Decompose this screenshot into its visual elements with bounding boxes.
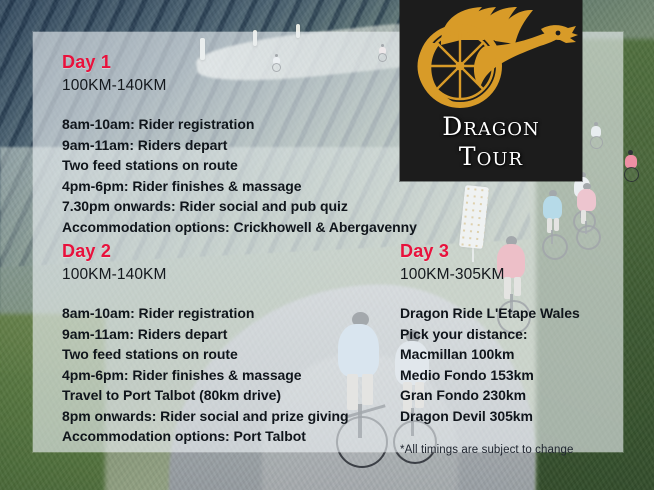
poster: Day 1 100KM-140KM 8am-10am: Rider regist… bbox=[0, 0, 654, 490]
list-item: Accommodation options: Port Talbot bbox=[62, 426, 349, 447]
list-item: 8am-10am: Rider registration bbox=[62, 114, 417, 135]
day-1-heading: Day 1 bbox=[62, 52, 417, 72]
list-item: Macmillan 100km bbox=[400, 344, 580, 365]
list-item: Accommodation options: Crickhowell & Abe… bbox=[62, 217, 417, 238]
day-1-column: Day 1 100KM-140KM 8am-10am: Rider regist… bbox=[62, 52, 417, 237]
day-1-schedule-list: 8am-10am: Rider registration 9am-11am: R… bbox=[62, 114, 417, 237]
timings-disclaimer: *All timings are subject to change bbox=[400, 444, 580, 456]
day-3-distance: 100KM-305KM bbox=[400, 265, 580, 285]
list-item: 4pm-6pm: Rider finishes & massage bbox=[62, 176, 417, 197]
day-2-heading: Day 2 bbox=[62, 241, 349, 261]
list-item: Medio Fondo 153km bbox=[400, 365, 580, 386]
list-item: 9am-11am: Riders depart bbox=[62, 324, 349, 345]
list-item: 8pm onwards: Rider social and prize givi… bbox=[62, 406, 349, 427]
list-item: Dragon Ride L'Etape Wales bbox=[400, 303, 580, 324]
logo-word-tour: Tour bbox=[400, 142, 582, 172]
logo-wordmark: Dragon Tour bbox=[400, 112, 582, 172]
day-1-distance: 100KM-140KM bbox=[62, 76, 417, 96]
list-item: 9am-11am: Riders depart bbox=[62, 135, 417, 156]
list-item: Two feed stations on route bbox=[62, 155, 417, 176]
logo-word-dragon: Dragon bbox=[400, 112, 582, 142]
list-item: 8am-10am: Rider registration bbox=[62, 303, 349, 324]
list-item: Dragon Devil 305km bbox=[400, 406, 580, 427]
list-item: Pick your distance: bbox=[400, 324, 580, 345]
day-2-distance: 100KM-140KM bbox=[62, 265, 349, 285]
list-item: Two feed stations on route bbox=[62, 344, 349, 365]
list-item: 4pm-6pm: Rider finishes & massage bbox=[62, 365, 349, 386]
day-3-heading: Day 3 bbox=[400, 241, 580, 261]
day-2-schedule-list: 8am-10am: Rider registration 9am-11am: R… bbox=[62, 303, 349, 447]
list-item: Travel to Port Talbot (80km drive) bbox=[62, 385, 349, 406]
dragon-bicycle-wheel-icon bbox=[400, 2, 582, 114]
day-2-column: Day 2 100KM-140KM 8am-10am: Rider regist… bbox=[62, 241, 349, 447]
list-item: 7.30pm onwards: Rider social and pub qui… bbox=[62, 196, 417, 217]
dragon-tour-logo-panel: Dragon Tour bbox=[400, 0, 582, 181]
list-item: Gran Fondo 230km bbox=[400, 385, 580, 406]
day-3-column: Day 3 100KM-305KM Dragon Ride L'Etape Wa… bbox=[400, 241, 580, 456]
day-3-schedule-list: Dragon Ride L'Etape Wales Pick your dist… bbox=[400, 303, 580, 426]
